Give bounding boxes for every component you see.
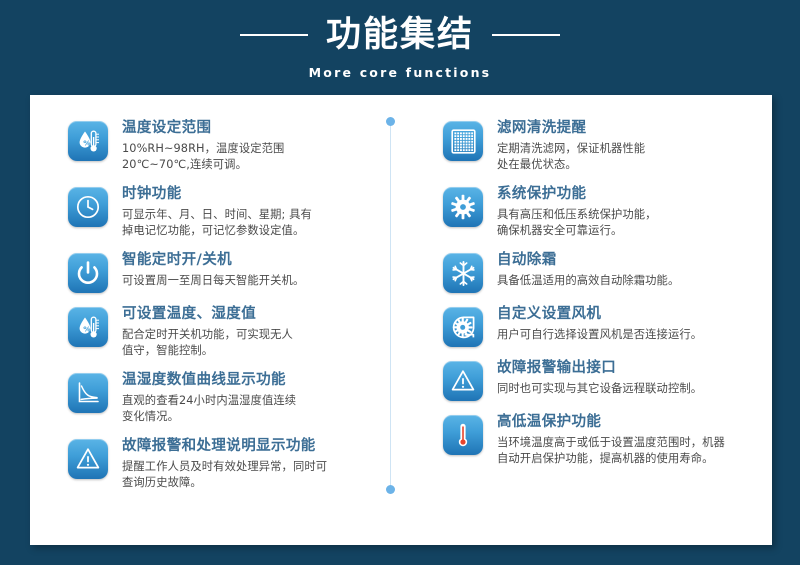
feature-title: 故障报警和处理说明显示功能 (122, 436, 327, 456)
feature-description-line: 同时也可实现与其它设备远程联动控制。 (497, 381, 702, 397)
power-icon (68, 253, 108, 293)
curve-chart-icon (68, 373, 108, 413)
feature-item: 温湿度数值曲线显示功能直观的查看24小时内温湿度值连续变化情况。 (68, 369, 383, 425)
warning-triangle-icon (68, 439, 108, 479)
feature-item: 时钟功能可显示年、月、日、时间、星期; 具有掉电记忆功能，可记忆参数设定值。 (68, 183, 383, 239)
feature-item: 智能定时开/关机可设置周一至周日每天智能开关机。 (68, 249, 383, 293)
title-dash-left-icon (240, 34, 308, 36)
feature-description-line: 处在最优状态。 (497, 157, 645, 173)
title-row: 功能集结 (240, 13, 560, 57)
feature-description-line: 定期清洗滤网，保证机器性能 (497, 141, 645, 157)
feature-text: 故障报警和处理说明显示功能提醒工作人员及时有效处理异常，同时可查询历史故障。 (122, 435, 327, 491)
feature-description-line: 直观的查看24小时内温湿度值连续 (122, 393, 296, 409)
feature-item: 系统保护功能具有高压和低压系统保护功能，确保机器安全可靠运行。 (443, 183, 754, 239)
feature-description: 可显示年、月、日、时间、星期; 具有掉电记忆功能，可记忆参数设定值。 (122, 207, 312, 239)
title-dash-right-icon (492, 34, 560, 36)
feature-item: 自定义设置风机用户可自行选择设置风机是否连接运行。 (443, 303, 754, 347)
feature-text: 系统保护功能具有高压和低压系统保护功能，确保机器安全可靠运行。 (497, 183, 657, 239)
feature-item: 滤网清洗提醒定期清洗滤网，保证机器性能处在最优状态。 (443, 117, 754, 173)
feature-text: 时钟功能可显示年、月、日、时间、星期; 具有掉电记忆功能，可记忆参数设定值。 (122, 183, 312, 239)
feature-description: 同时也可实现与其它设备远程联动控制。 (497, 381, 702, 397)
feature-text: 智能定时开/关机可设置周一至周日每天智能开关机。 (122, 249, 304, 289)
feature-title: 智能定时开/关机 (122, 250, 304, 270)
feature-item: % 可设置温度、湿度值配合定时开关机功能，可实现无人值守，智能控制。 (68, 303, 383, 359)
feature-title: 温湿度数值曲线显示功能 (122, 370, 296, 390)
feature-text: 可设置温度、湿度值配合定时开关机功能，可实现无人值守，智能控制。 (122, 303, 293, 359)
features-card: % 温度设定范围10%RH~98RH，温度设定范围20℃~70℃,连续可调。 时… (30, 95, 772, 545)
feature-title: 自动除霜 (497, 250, 679, 270)
feature-text: 滤网清洗提醒定期清洗滤网，保证机器性能处在最优状态。 (497, 117, 645, 173)
feature-text: 温度设定范围10%RH~98RH，温度设定范围20℃~70℃,连续可调。 (122, 117, 284, 173)
blower-fan-icon (443, 307, 483, 347)
feature-description-line: 可显示年、月、日、时间、星期; 具有 (122, 207, 312, 223)
feature-title: 可设置温度、湿度值 (122, 304, 293, 324)
feature-description-line: 当环境温度高于或低于设置温度范围时，机器 (497, 435, 725, 451)
page-subtitle: More core functions (309, 65, 492, 80)
feature-description-line: 用户可自行选择设置风机是否连接运行。 (497, 327, 702, 343)
feature-text: 自定义设置风机用户可自行选择设置风机是否连接运行。 (497, 303, 702, 343)
filter-mesh-icon (443, 121, 483, 161)
humidity-thermometer-icon: % (68, 307, 108, 347)
features-column-left: % 温度设定范围10%RH~98RH，温度设定范围20℃~70℃,连续可调。 时… (30, 117, 401, 545)
feature-description-line: 具有高压和低压系统保护功能， (497, 207, 657, 223)
feature-description-line: 提醒工作人员及时有效处理异常，同时可 (122, 459, 327, 475)
feature-title: 自定义设置风机 (497, 304, 702, 324)
feature-title: 故障报警输出接口 (497, 358, 702, 378)
features-column-right: 滤网清洗提醒定期清洗滤网，保证机器性能处在最优状态。 系统保护功能具有高压和低压… (401, 117, 772, 545)
feature-description-line: 20℃~70℃,连续可调。 (122, 157, 284, 173)
feature-description-line: 配合定时开关机功能，可实现无人 (122, 327, 293, 343)
feature-description-line: 可设置周一至周日每天智能开关机。 (122, 273, 304, 289)
feature-text: 温湿度数值曲线显示功能直观的查看24小时内温湿度值连续变化情况。 (122, 369, 296, 425)
feature-description: 可设置周一至周日每天智能开关机。 (122, 273, 304, 289)
page-header: 功能集结 More core functions (0, 0, 800, 95)
feature-description-line: 10%RH~98RH，温度设定范围 (122, 141, 284, 157)
svg-text:%: % (83, 325, 91, 334)
feature-description: 用户可自行选择设置风机是否连接运行。 (497, 327, 702, 343)
feature-description-line: 掉电记忆功能，可记忆参数设定值。 (122, 223, 312, 239)
divider-dot-bottom-icon (386, 485, 395, 494)
clock-icon (68, 187, 108, 227)
feature-title: 滤网清洗提醒 (497, 118, 645, 138)
page-title: 功能集结 (326, 13, 474, 57)
feature-item: % 温度设定范围10%RH~98RH，温度设定范围20℃~70℃,连续可调。 (68, 117, 383, 173)
feature-description: 配合定时开关机功能，可实现无人值守，智能控制。 (122, 327, 293, 359)
feature-description: 定期清洗滤网，保证机器性能处在最优状态。 (497, 141, 645, 173)
humidity-thermometer-icon: % (68, 121, 108, 161)
feature-item: 故障报警和处理说明显示功能提醒工作人员及时有效处理异常，同时可查询历史故障。 (68, 435, 383, 491)
features-columns: % 温度设定范围10%RH~98RH，温度设定范围20℃~70℃,连续可调。 时… (30, 95, 772, 545)
feature-item: 故障报警输出接口同时也可实现与其它设备远程联动控制。 (443, 357, 754, 401)
warning-triangle-icon (443, 361, 483, 401)
feature-description: 具有高压和低压系统保护功能，确保机器安全可靠运行。 (497, 207, 657, 239)
feature-description-line: 变化情况。 (122, 409, 296, 425)
feature-description: 10%RH~98RH，温度设定范围20℃~70℃,连续可调。 (122, 141, 284, 173)
feature-title: 系统保护功能 (497, 184, 657, 204)
feature-description: 直观的查看24小时内温湿度值连续变化情况。 (122, 393, 296, 425)
feature-description-line: 具备低温适用的高效自动除霜功能。 (497, 273, 679, 289)
feature-item: 高低温保护功能当环境温度高于或低于设置温度范围时，机器自动开启保护功能，提高机器… (443, 411, 754, 467)
feature-description: 当环境温度高于或低于设置温度范围时，机器自动开启保护功能，提高机器的使用寿命。 (497, 435, 725, 467)
gear-icon (443, 187, 483, 227)
feature-text: 自动除霜具备低温适用的高效自动除霜功能。 (497, 249, 679, 289)
feature-description-line: 值守，智能控制。 (122, 343, 293, 359)
feature-text: 高低温保护功能当环境温度高于或低于设置温度范围时，机器自动开启保护功能，提高机器… (497, 411, 725, 467)
feature-item: 自动除霜具备低温适用的高效自动除霜功能。 (443, 249, 754, 293)
feature-title: 温度设定范围 (122, 118, 284, 138)
svg-text:%: % (83, 139, 91, 148)
snowflake-icon (443, 253, 483, 293)
feature-description-line: 自动开启保护功能，提高机器的使用寿命。 (497, 451, 725, 467)
column-divider (386, 117, 395, 494)
divider-dot-top-icon (386, 117, 395, 126)
feature-description: 提醒工作人员及时有效处理异常，同时可查询历史故障。 (122, 459, 327, 491)
divider-line (390, 121, 391, 491)
feature-title: 时钟功能 (122, 184, 312, 204)
thermometer-icon (443, 415, 483, 455)
feature-title: 高低温保护功能 (497, 412, 725, 432)
feature-description-line: 查询历史故障。 (122, 475, 327, 491)
feature-description-line: 确保机器安全可靠运行。 (497, 223, 657, 239)
feature-text: 故障报警输出接口同时也可实现与其它设备远程联动控制。 (497, 357, 702, 397)
feature-description: 具备低温适用的高效自动除霜功能。 (497, 273, 679, 289)
